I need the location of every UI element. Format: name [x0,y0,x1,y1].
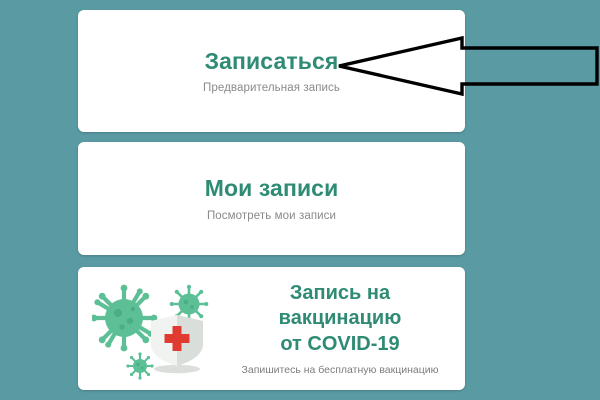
card-appointment-content: Записаться Предварительная запись [78,10,465,132]
card-my-records-content: Мои записи Посмотреть мои записи [78,142,465,255]
card-my-records-subtitle: Посмотреть мои записи [207,210,336,222]
card-vaccination-title-line3: от COVID-19 [279,332,402,358]
virus-icon-small [126,352,153,379]
card-vaccination-title: Запись на вакцинацию от COVID-19 [279,281,402,358]
card-vaccination-title-line2: вакцинацию [279,306,402,332]
card-vaccination-text: Запись на вакцинацию от COVID-19 Запишит… [227,281,455,377]
card-my-records-title: Мои записи [205,175,339,201]
shield-shadow [154,364,200,372]
card-my-records[interactable]: Мои записи Посмотреть мои записи [78,142,465,255]
app-root: Записаться Предварительная запись Мои за… [0,0,600,400]
card-appointment-subtitle: Предварительная запись [203,82,340,94]
card-vaccination-subtitle: Запишитесь на бесплатную вакцинацию [242,364,439,376]
virus-icon-large [92,284,157,351]
card-appointment[interactable]: Записаться Предварительная запись [78,10,465,132]
shield-medical-cross-icon [151,315,203,366]
card-vaccination-title-line1: Запись на [279,281,402,307]
card-appointment-title: Записаться [205,48,339,74]
vaccination-illustration [92,274,227,384]
card-vaccination[interactable]: Запись на вакцинацию от COVID-19 Запишит… [78,267,465,390]
card-vaccination-content: Запись на вакцинацию от COVID-19 Запишит… [78,267,465,390]
